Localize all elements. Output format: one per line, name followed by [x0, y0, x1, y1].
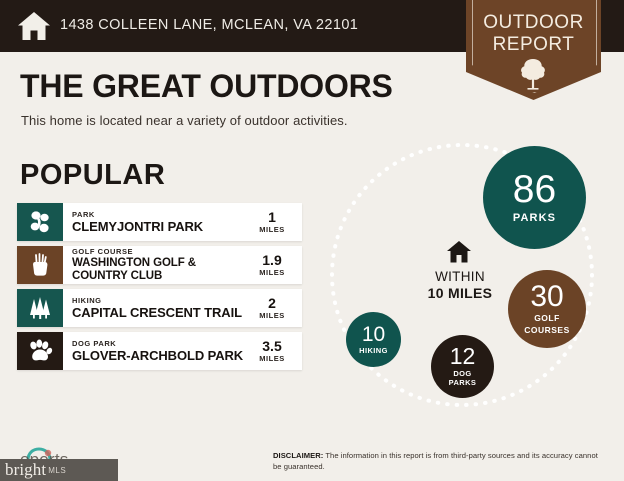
pine-trees-icon: [27, 296, 53, 320]
page-title: THE GREAT OUTDOORS: [20, 70, 393, 102]
list-item-distance: 1.9 MILES: [246, 246, 302, 284]
list-item-name: GLOVER-ARCHBOLD PARK: [72, 349, 246, 363]
distance-value: 1.9: [262, 253, 281, 267]
bubble-parks[interactable]: 86 PARKS: [483, 146, 586, 249]
bubble-parks-label: PARKS: [513, 213, 556, 225]
bubble-dog-label-line1: DOG: [453, 370, 471, 378]
distance-unit: MILES: [259, 354, 284, 363]
golf-bag-icon-tile: [17, 246, 63, 284]
list-item-name: CAPITAL CRESCENT TRAIL: [72, 306, 246, 320]
distance-value: 1: [268, 210, 276, 224]
list-item-name: WASHINGTON GOLF & COUNTRY CLUB: [72, 257, 246, 283]
distance-value: 2: [268, 296, 276, 310]
disclaimer: DISCLAIMER: The information in this repo…: [273, 450, 608, 472]
list-item[interactable]: DOG PARK GLOVER-ARCHBOLD PARK 3.5 MILES: [17, 332, 302, 370]
tree-icon: [518, 57, 548, 90]
home-icon: [446, 240, 472, 264]
paw-print-icon: [27, 339, 53, 363]
badge-title-line2: REPORT: [466, 35, 601, 54]
bubble-hiking-value: 10: [362, 325, 385, 345]
bubble-hiking[interactable]: 10 HIKING: [346, 312, 401, 367]
distance-unit: MILES: [259, 311, 284, 320]
distance-value: 3.5: [262, 339, 281, 353]
property-address: 1438 COLLEEN LANE, MCLEAN, VA 22101: [60, 17, 358, 33]
bubble-parks-value: 86: [513, 171, 556, 208]
list-item-name: CLEMYJONTRI PARK: [72, 220, 246, 234]
bubble-golf-label-line1: GOLF: [534, 314, 560, 323]
park-icon-tile: [17, 203, 63, 241]
badge-title-line1: OUTDOOR: [466, 13, 601, 32]
list-item-distance: 2 MILES: [246, 289, 302, 327]
golf-bag-icon: [28, 252, 52, 278]
page-subtitle: This home is located near a variety of o…: [21, 113, 348, 128]
list-item-category: GOLF COURSE: [72, 247, 246, 256]
bubble-dog-label-line2: PARKS: [449, 379, 477, 387]
watermark-name: bright: [5, 460, 46, 480]
home-icon: [17, 10, 51, 42]
disclaimer-label: DISCLAIMER:: [273, 451, 323, 460]
watermark-sub: MLS: [48, 466, 66, 475]
distance-unit: MILES: [259, 225, 284, 234]
pine-trees-icon-tile: [17, 289, 63, 327]
popular-heading: POPULAR: [20, 161, 165, 190]
list-item-distance: 1 MILES: [246, 203, 302, 241]
center-label-line1: WITHIN: [400, 270, 520, 285]
list-item[interactable]: PARK CLEMYJONTRI PARK 1 MILES: [17, 203, 302, 241]
bubble-dog-value: 12: [450, 346, 476, 368]
list-item[interactable]: GOLF COURSE WASHINGTON GOLF & COUNTRY CL…: [17, 246, 302, 284]
list-item-distance: 3.5 MILES: [246, 332, 302, 370]
list-item[interactable]: HIKING CAPITAL CRESCENT TRAIL 2 MILES: [17, 289, 302, 327]
bubble-golf-label-line2: COURSES: [524, 326, 570, 335]
park-icon: [27, 209, 53, 235]
center-label-line2: 10 MILES: [400, 286, 520, 301]
outdoor-report-page: 1438 COLLEEN LANE, MCLEAN, VA 22101 OUTD…: [0, 0, 624, 481]
popular-list: PARK CLEMYJONTRI PARK 1 MILES GOLF COURS…: [17, 203, 302, 375]
paw-print-icon-tile: [17, 332, 63, 370]
watermark: bright MLS: [0, 459, 118, 481]
distance-unit: MILES: [259, 268, 284, 277]
amenities-bubble-chart: 86 PARKS 30 GOLF COURSES 12 DOG PARKS 10…: [322, 134, 612, 414]
bubble-golf-value: 30: [530, 283, 563, 312]
bubble-dog-parks[interactable]: 12 DOG PARKS: [431, 335, 494, 398]
bubble-hiking-label: HIKING: [359, 347, 388, 355]
